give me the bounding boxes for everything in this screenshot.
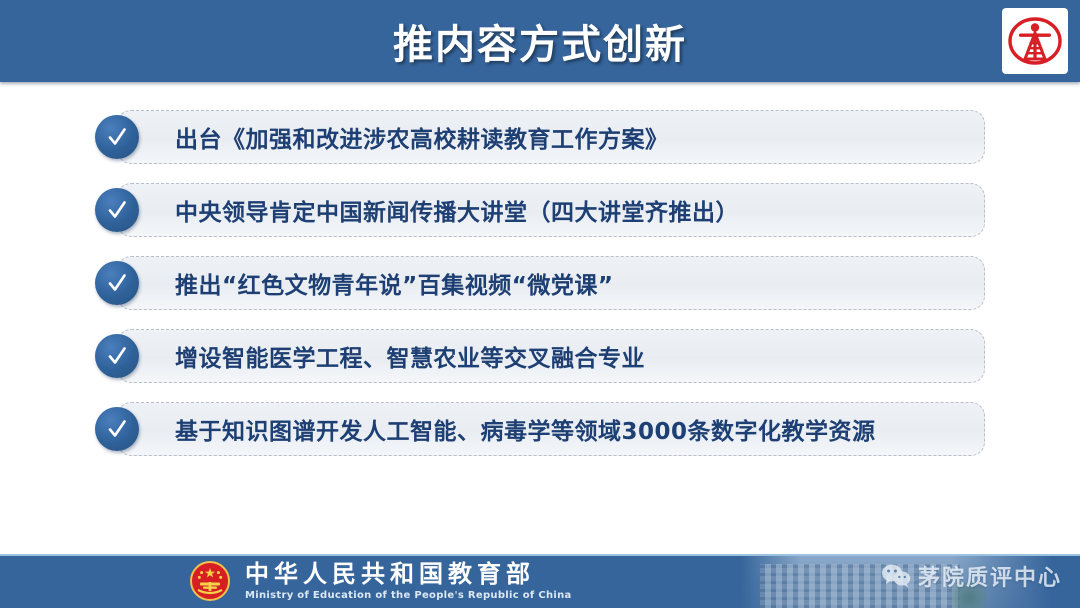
list-item-label: 推出“红色文物青年说”百集视频“微党课”: [175, 256, 613, 310]
check-circle-icon: [95, 334, 139, 378]
ministry-names: 中华人民共和国教育部 Ministry of Education of the …: [245, 562, 572, 601]
list-item-label: 出台《加强和改进涉农高校耕读教育工作方案》: [175, 110, 669, 164]
check-circle-icon: [95, 407, 139, 451]
ministry-name-en: Ministry of Education of the People's Re…: [245, 591, 572, 601]
watermark: 茅院质评中心: [881, 560, 1062, 592]
check-circle-icon: [95, 115, 139, 159]
list-item-label: 增设智能医学工程、智慧农业等交叉融合专业: [175, 329, 645, 383]
watermark-text: 茅院质评中心: [918, 560, 1062, 592]
ministry-branding: 中华人民共和国教育部 Ministry of Education of the …: [188, 559, 572, 603]
list-item[interactable]: 增设智能医学工程、智慧农业等交叉融合专业: [95, 329, 985, 383]
list-item[interactable]: 推出“红色文物青年说”百集视频“微党课”: [95, 256, 985, 310]
list-item[interactable]: 基于知识图谱开发人工智能、病毒学等领域3000条数字化教学资源: [95, 402, 985, 456]
wechat-icon: [881, 563, 911, 589]
ministry-name-cn: 中华人民共和国教育部: [245, 562, 572, 586]
slide-canvas: 推内容方式创新 出台《加强和改进涉农高校耕读教育工作方案》: [0, 0, 1080, 608]
list-item-label: 中央领导肯定中国新闻传播大讲堂（四大讲堂齐推出）: [175, 183, 739, 237]
list-item-label: 基于知识图谱开发人工智能、病毒学等领域3000条数字化教学资源: [175, 402, 876, 456]
organization-emblem-logo: [1002, 8, 1068, 74]
footer-band: 中华人民共和国教育部 Ministry of Education of the …: [0, 554, 1080, 608]
bullet-list: 出台《加强和改进涉农高校耕读教育工作方案》 中央领导肯定中国新闻传播大讲堂（四大…: [0, 110, 1080, 475]
list-item[interactable]: 中央领导肯定中国新闻传播大讲堂（四大讲堂齐推出）: [95, 183, 985, 237]
header-band: 推内容方式创新: [0, 0, 1080, 82]
page-title: 推内容方式创新: [0, 0, 1080, 82]
list-item[interactable]: 出台《加强和改进涉农高校耕读教育工作方案》: [95, 110, 985, 164]
check-circle-icon: [95, 261, 139, 305]
check-circle-icon: [95, 188, 139, 232]
china-national-emblem: [188, 559, 232, 603]
